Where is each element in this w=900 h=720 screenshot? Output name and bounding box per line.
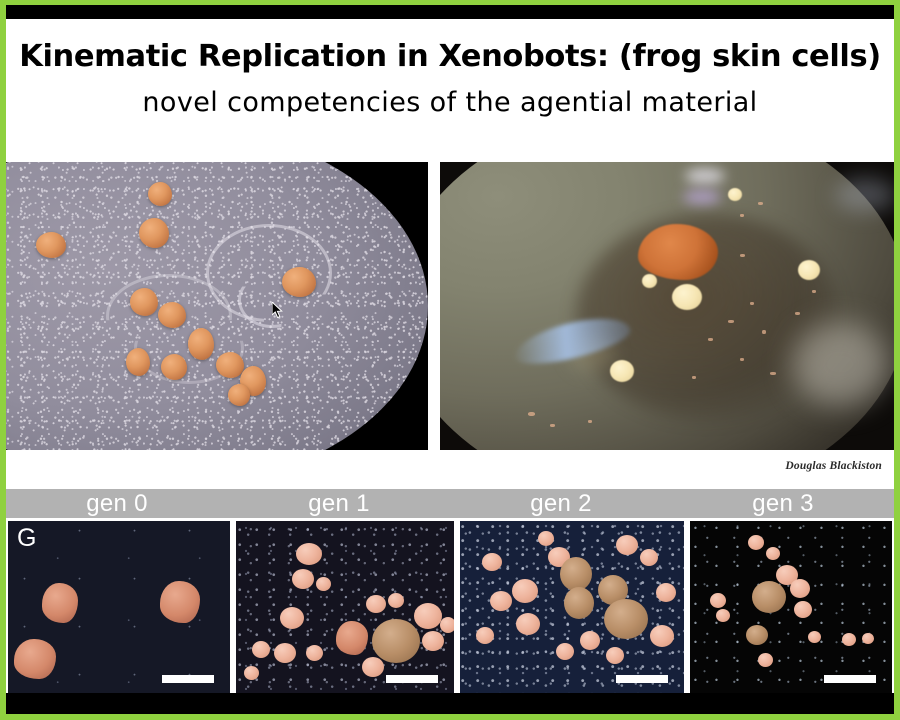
xenobot-cluster-large <box>372 619 420 663</box>
generation-label-bar: gen 0 gen 1 gen 2 gen 3 <box>6 489 894 518</box>
xenobot-sphere <box>296 543 322 565</box>
mouse-cursor <box>272 302 284 319</box>
debris-fleck <box>770 372 776 375</box>
xenobot-sphere <box>476 627 494 644</box>
xenobot-sphere <box>672 284 702 310</box>
bottom-black-bar <box>6 693 894 714</box>
debris-fleck <box>750 302 754 305</box>
xenobot-sphere <box>538 531 554 546</box>
xenobot-cluster <box>139 218 169 248</box>
xenobot-cluster-large <box>752 581 786 613</box>
xenobot-cluster-large <box>604 599 648 639</box>
petri-dish-microscopy-left <box>6 162 428 450</box>
xenobot-cluster-large <box>746 625 768 645</box>
debris-fleck <box>740 214 744 217</box>
microscopy-photo-row <box>6 162 894 450</box>
xenobot-sphere <box>490 591 512 611</box>
xenobot-sphere <box>512 579 538 603</box>
xenobot-sphere <box>650 625 674 647</box>
xenobot-sphere <box>422 631 444 651</box>
page-subtitle: novel competencies of the agential mater… <box>6 74 894 118</box>
generation-panel-row: G <box>6 521 894 697</box>
generation-label-gen-3: gen 3 <box>672 489 894 518</box>
top-black-bar <box>6 5 894 19</box>
xenobot-sphere <box>616 535 638 555</box>
xenobot-cluster <box>130 288 158 316</box>
xenobot-sphere <box>862 633 874 644</box>
petri-dish-microscopy-right <box>440 162 894 450</box>
xenobot-sphere <box>642 274 657 288</box>
scale-bar <box>162 675 214 683</box>
xenobot-cluster <box>188 328 214 360</box>
scale-bar <box>386 675 438 683</box>
xenobot-cluster <box>36 232 66 258</box>
gen-2-panel <box>460 521 684 697</box>
debris-fleck <box>550 424 555 427</box>
xenobot-sphere <box>798 260 820 280</box>
gen-3-panel <box>690 521 892 697</box>
generation-label-gen-2: gen 2 <box>450 489 672 518</box>
xenobot-sphere <box>728 188 742 201</box>
debris-fleck <box>528 412 535 416</box>
xenobot-cluster <box>42 583 78 623</box>
xenobot-sphere <box>280 607 304 629</box>
generation-label-gen-1: gen 1 <box>228 489 450 518</box>
xenobot-sphere <box>794 601 812 618</box>
xenobot-sphere <box>366 595 386 613</box>
light-reflection <box>835 178 894 212</box>
xenobot-cluster <box>158 302 186 328</box>
xenobot-cluster <box>216 352 244 378</box>
debris-fleck <box>692 376 696 379</box>
xenobot-cluster <box>14 639 56 679</box>
xenobot-cluster <box>161 354 187 380</box>
debris-fleck <box>758 202 763 205</box>
xenobot-cluster <box>228 384 250 406</box>
panel-letter-g: G <box>17 523 36 553</box>
xenobot-sphere <box>710 593 726 608</box>
microscopy-image-left <box>6 162 428 450</box>
xenobot-cluster-large <box>564 587 594 619</box>
microscopy-image-right <box>440 162 894 450</box>
gen-1-panel <box>236 521 454 697</box>
debris-fleck <box>588 420 592 423</box>
xenobot-sphere <box>292 569 314 589</box>
xenobot-sphere <box>748 535 764 550</box>
xenobot-cluster-large <box>560 557 592 591</box>
debris-fleck <box>795 312 800 315</box>
xenobot-cluster <box>160 581 200 623</box>
xenobot-sphere <box>252 641 270 658</box>
xenobot-sphere <box>516 613 540 635</box>
slide-frame: Kinematic Replication in Xenobots: (frog… <box>0 0 900 720</box>
xenobot-sphere <box>842 633 856 646</box>
debris-fleck <box>740 254 745 257</box>
debris-fleck <box>708 338 713 341</box>
xenobot-sphere <box>716 609 730 622</box>
xenobot-sphere <box>414 603 442 629</box>
xenobot-sphere <box>766 547 780 560</box>
xenobot-cluster <box>336 621 368 655</box>
xenobot-sphere <box>388 593 404 608</box>
generation-label-gen-0: gen 0 <box>6 489 228 518</box>
scale-bar <box>616 675 668 683</box>
xenobot-sphere <box>610 360 634 382</box>
xenobot-cluster <box>282 267 316 297</box>
xenobot-sphere <box>440 617 454 633</box>
xenobot-sphere <box>656 583 676 602</box>
xenobot-cluster-large <box>638 224 718 280</box>
xenobot-sphere <box>482 553 502 571</box>
xenobot-cluster <box>126 348 150 376</box>
slide-content: Kinematic Replication in Xenobots: (frog… <box>6 5 894 714</box>
title-block: Kinematic Replication in Xenobots: (frog… <box>6 19 894 160</box>
xenobot-sphere <box>790 579 810 598</box>
xenobot-sphere <box>580 631 600 650</box>
xenobot-sphere <box>808 631 821 643</box>
xenobot-sphere <box>316 577 331 591</box>
scale-bar <box>824 675 876 683</box>
xenobot-sphere <box>362 657 384 677</box>
gen-0-panel: G <box>8 521 230 697</box>
xenobot-sphere <box>306 645 323 661</box>
xenobot-sphere <box>606 647 624 664</box>
debris-fleck <box>812 290 816 293</box>
debris-fleck <box>740 358 744 361</box>
light-reflection <box>685 168 725 184</box>
xenobot-sphere <box>758 653 773 667</box>
xenobot-sphere <box>244 666 259 680</box>
xenobot-sphere <box>640 549 658 566</box>
light-reflection <box>683 190 721 204</box>
xenobot-cluster <box>148 182 172 206</box>
page-title: Kinematic Replication in Xenobots: (frog… <box>6 19 894 74</box>
debris-fleck <box>728 320 734 323</box>
xenobot-sphere <box>274 643 296 663</box>
debris-fleck <box>762 330 766 334</box>
photo-credit: Douglas Blackiston <box>785 460 882 472</box>
xenobot-sphere <box>556 643 574 660</box>
light-reflection <box>792 322 888 406</box>
